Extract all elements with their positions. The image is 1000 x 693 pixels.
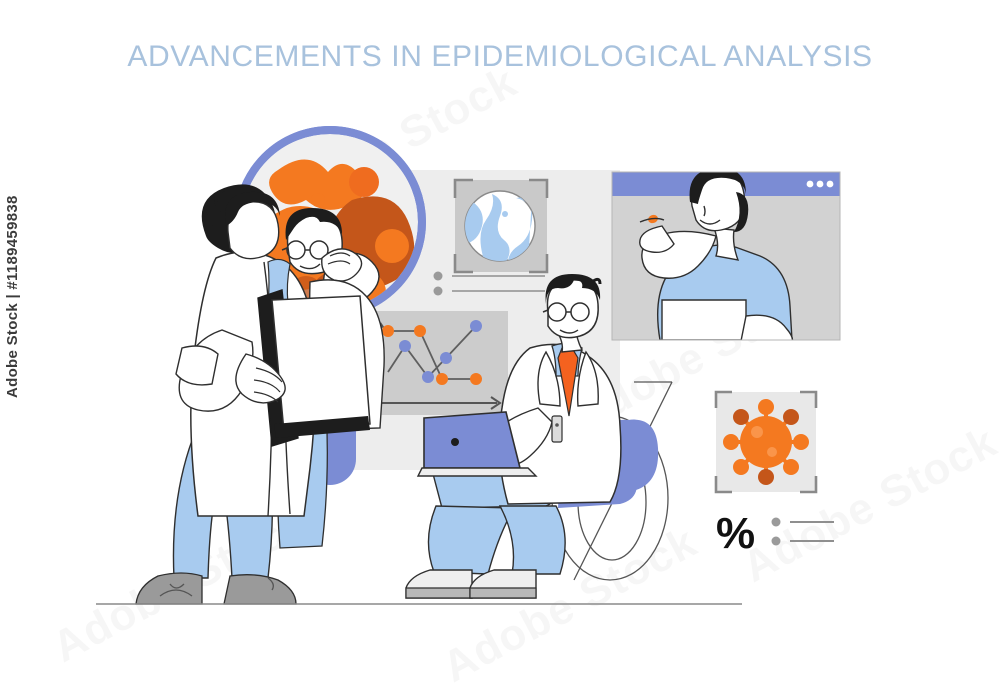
clipboard — [258, 290, 370, 446]
page-title: ADVANCEMENTS IN EPIDEMIOLOGICAL ANALYSIS — [0, 40, 1000, 74]
adobe-stock-watermark: Adobe Stock | #1189459838 — [4, 195, 21, 398]
svg-text:%: % — [716, 509, 755, 558]
virus-icon — [723, 399, 809, 485]
illustration-canvas: Adobe Stock Adobe Stock Adobe Stock Adob… — [0, 0, 1000, 667]
percent-statistic: % — [716, 509, 834, 558]
virus-specimen-card — [716, 392, 816, 492]
scene-artwork: % — [0, 0, 1000, 667]
window-menu-dots-icon[interactable] — [807, 181, 834, 188]
chart-card — [368, 311, 508, 415]
video-call-window[interactable] — [612, 158, 840, 348]
